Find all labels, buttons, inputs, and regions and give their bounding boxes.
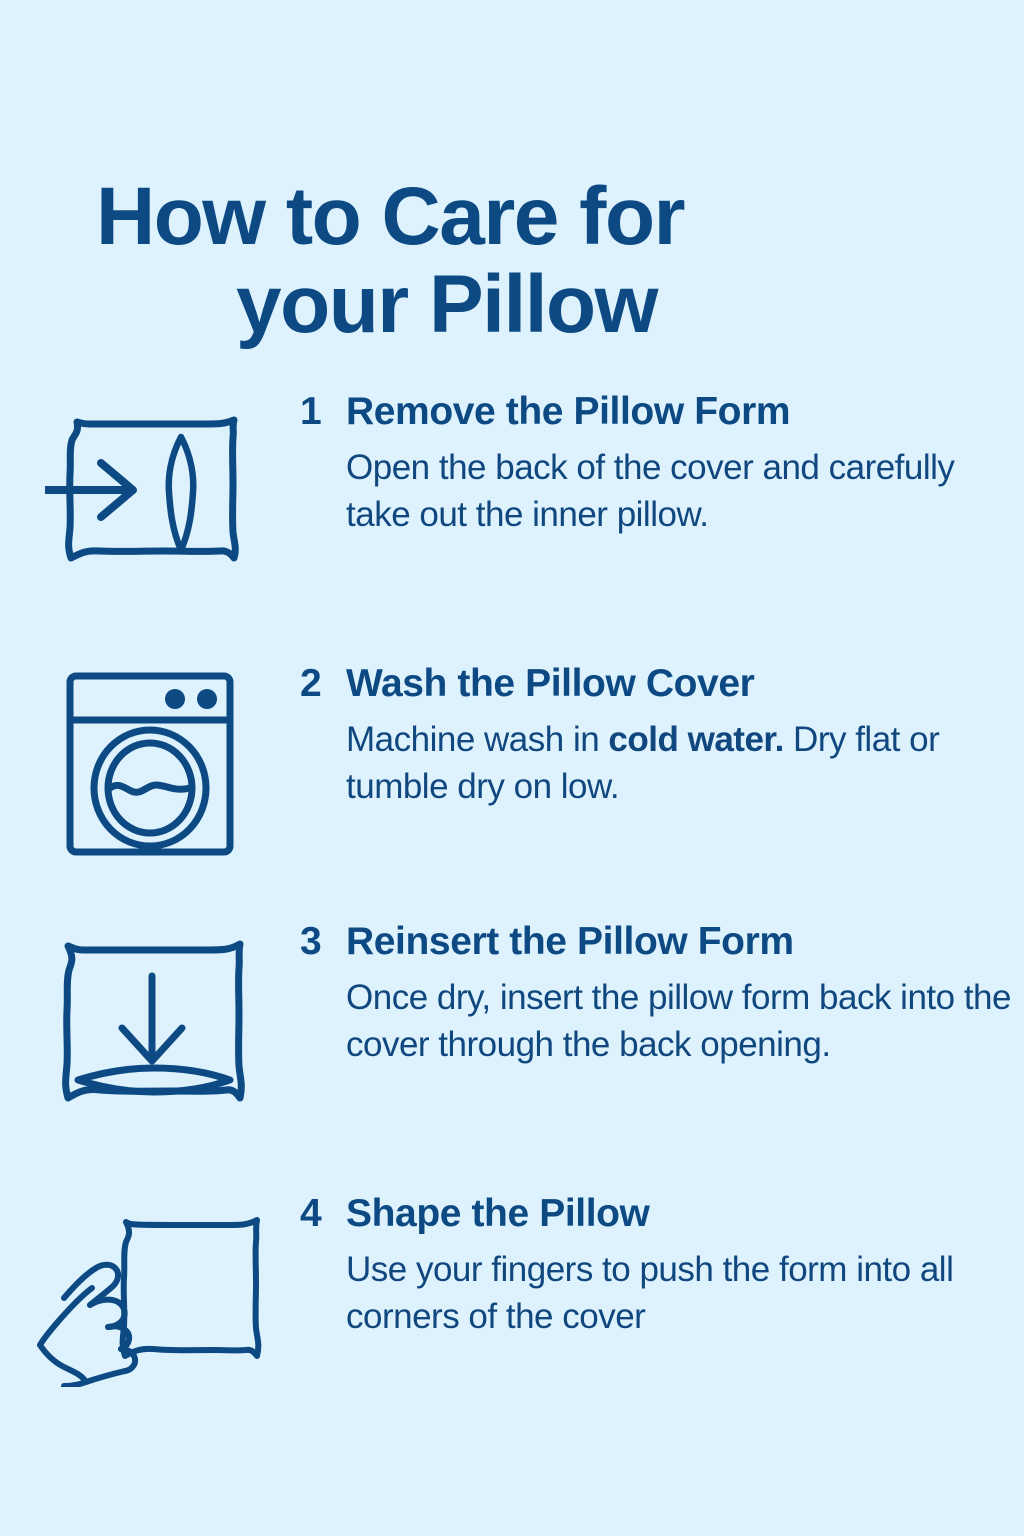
- step-1-heading: Remove the Pillow Form: [346, 392, 790, 431]
- step-item-2: 2 Wash the Pillow Cover Machine wash in …: [0, 664, 1024, 922]
- step-1-heading-row: 1 Remove the Pillow Form: [300, 392, 1018, 431]
- step-2-icon-wrap: [0, 664, 300, 860]
- step-1-number: 1: [300, 392, 346, 431]
- step-2-desc-part-1: Machine wash in: [346, 720, 608, 759]
- step-2-heading-row: 2 Wash the Pillow Cover: [300, 664, 1018, 703]
- page-title-line-1: How to Care for: [96, 173, 956, 262]
- step-item-4: 4 Shape the Pillow Use your fingers to p…: [0, 1194, 1024, 1444]
- step-4-icon-wrap: [0, 1194, 300, 1387]
- step-3-description: Once dry, insert the pillow form back in…: [346, 975, 1018, 1068]
- hand-pressing-pillow-icon: [30, 1212, 270, 1387]
- pillow-care-infographic: How to Care for your Pillow 1 Rem: [0, 0, 1024, 1536]
- step-item-1: 1 Remove the Pillow Form Open the back o…: [0, 392, 1024, 664]
- washing-machine-icon: [62, 668, 238, 860]
- step-3-heading: Reinsert the Pillow Form: [346, 922, 794, 961]
- step-4-body: 4 Shape the Pillow Use your fingers to p…: [300, 1194, 1024, 1340]
- step-2-body: 2 Wash the Pillow Cover Machine wash in …: [300, 664, 1024, 810]
- step-3-body: 3 Reinsert the Pillow Form Once dry, ins…: [300, 922, 1024, 1068]
- step-4-description: Use your fingers to push the form into a…: [346, 1247, 1018, 1340]
- pillow-with-arrow-in-icon: [45, 400, 255, 590]
- page-title-line-2: your Pillow: [96, 261, 956, 350]
- step-item-3: 3 Reinsert the Pillow Form Once dry, ins…: [0, 922, 1024, 1194]
- step-3-icon-wrap: [0, 922, 300, 1117]
- washer-knob-right: [197, 689, 217, 709]
- steps-list: 1 Remove the Pillow Form Open the back o…: [0, 392, 1024, 1444]
- step-1-body: 1 Remove the Pillow Form Open the back o…: [300, 392, 1024, 538]
- step-4-number: 4: [300, 1194, 346, 1233]
- step-3-heading-row: 3 Reinsert the Pillow Form: [300, 922, 1018, 961]
- step-2-heading: Wash the Pillow Cover: [346, 664, 754, 703]
- pillow-with-down-arrow-icon: [50, 932, 250, 1117]
- step-2-number: 2: [300, 664, 346, 703]
- washer-knob-left: [165, 689, 185, 709]
- step-3-number: 3: [300, 922, 346, 961]
- step-4-heading-row: 4 Shape the Pillow: [300, 1194, 1018, 1233]
- step-1-icon-wrap: [0, 392, 300, 590]
- step-1-description: Open the back of the cover and carefully…: [346, 445, 1018, 538]
- step-2-description: Machine wash in cold water. Dry flat or …: [346, 717, 1018, 810]
- step-2-desc-emphasis: cold water.: [608, 720, 783, 759]
- page-title: How to Care for your Pillow: [96, 173, 956, 350]
- step-4-heading: Shape the Pillow: [346, 1194, 650, 1233]
